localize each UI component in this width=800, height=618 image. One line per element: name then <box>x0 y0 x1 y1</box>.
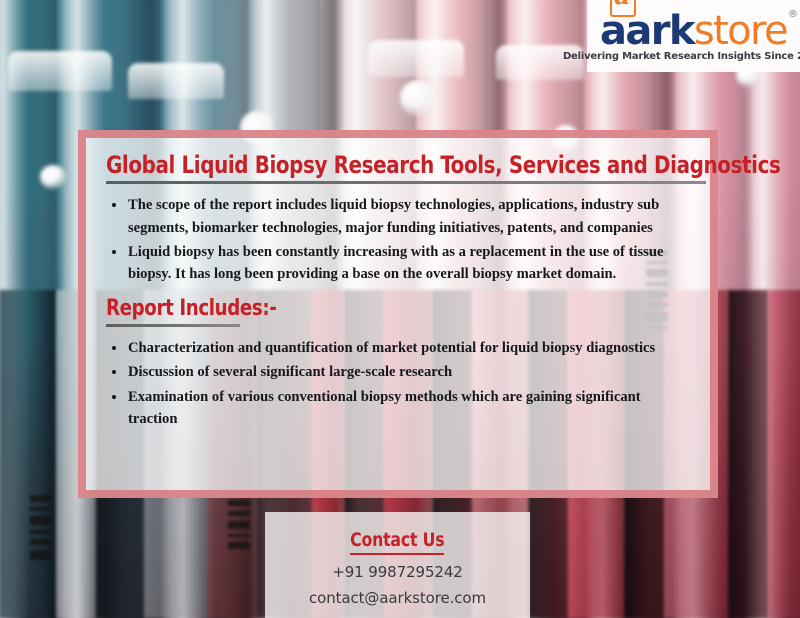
section-title-block: Report Includes:- <box>106 297 690 327</box>
page-title-block: Global Liquid Biopsy Research Tools, Ser… <box>106 152 690 184</box>
list-item: Discussion of several significant large-… <box>106 361 690 383</box>
section-title: Report Includes:- <box>106 297 643 321</box>
background-barcode-marks <box>30 495 52 565</box>
contact-panel: Contact Us +91 9987295242 contact@aarkst… <box>265 512 530 618</box>
list-item: Liquid biopsy has been constantly increa… <box>106 241 690 285</box>
page-title: Global Liquid Biopsy Research Tools, Ser… <box>106 152 643 178</box>
report-includes-bullet-list: Characterization and quantification of m… <box>106 337 690 430</box>
section-title-underline <box>106 324 240 327</box>
title-underline <box>106 181 706 184</box>
contact-phone[interactable]: +91 9987295242 <box>265 563 530 581</box>
background-barcode-marks-3 <box>228 500 250 554</box>
contact-heading: Contact Us <box>350 529 444 555</box>
list-item: The scope of the report includes liquid … <box>106 194 690 238</box>
logo-text-store: store <box>694 8 787 54</box>
list-item: Characterization and quantification of m… <box>106 337 690 359</box>
contact-email[interactable]: contact@aarkstore.com <box>265 589 530 607</box>
list-item: Examination of various conventional biop… <box>106 386 690 430</box>
intro-bullet-list: The scope of the report includes liquid … <box>106 194 690 285</box>
aarkstore-swoosh-icon <box>610 0 636 17</box>
aarkstore-logo[interactable]: aarkstore® Delivering Market Research In… <box>587 0 800 72</box>
registered-trademark-icon: ® <box>788 10 798 20</box>
poster-root: aarkstore® Delivering Market Research In… <box>0 0 800 618</box>
logo-wordmark: aarkstore® <box>600 12 787 50</box>
content-panel: Global Liquid Biopsy Research Tools, Ser… <box>78 130 718 498</box>
